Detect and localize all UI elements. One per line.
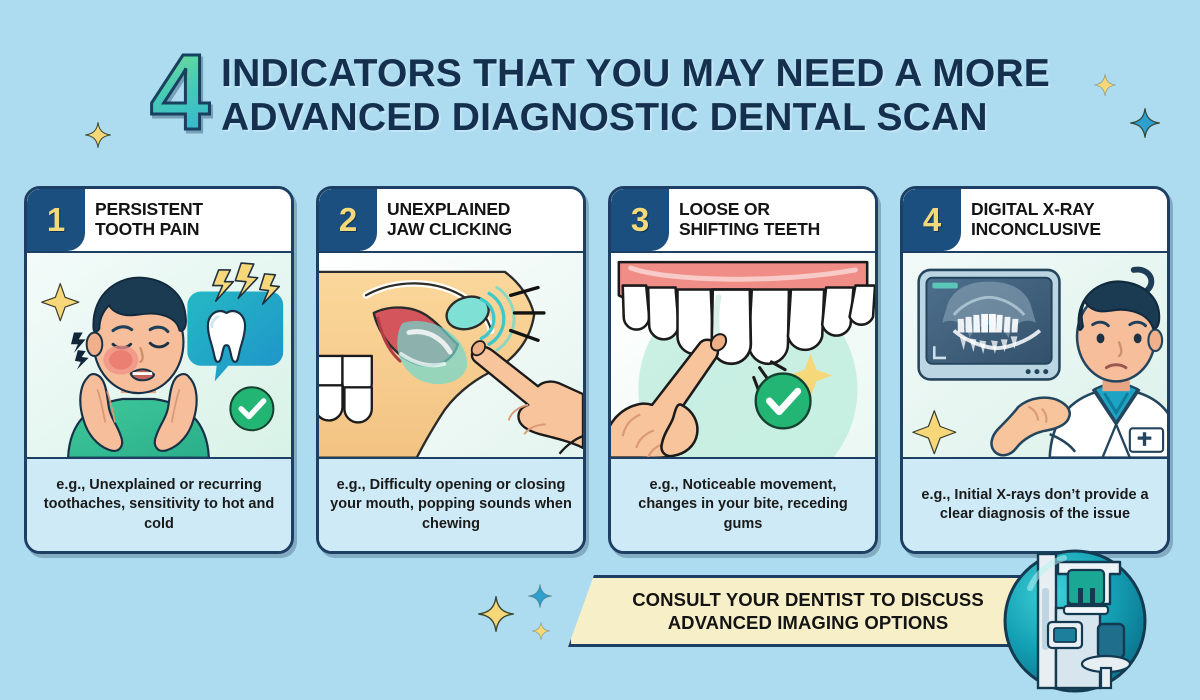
card-title: UNEXPLAINED JAW CLICKING <box>377 189 583 251</box>
card-title-line-1: LOOSE OR <box>679 200 820 220</box>
illustration-jaw-joint-with-pointing-finger <box>319 251 583 459</box>
headline-line-1: INDICATORS THAT YOU MAY NEED A MORE <box>221 52 1050 96</box>
headline-text: INDICATORS THAT YOU MAY NEED A MORE ADVA… <box>221 52 1050 139</box>
sparkle-bottom-yellow-icon <box>478 596 514 632</box>
card-caption: e.g., Noticeable movement, changes in yo… <box>611 459 875 551</box>
card-title-line-2: INCONCLUSIVE <box>971 220 1101 240</box>
card-title-line-1: UNEXPLAINED <box>387 200 512 220</box>
card-title-line-1: DIGITAL X-RAY <box>971 200 1101 220</box>
indicator-card-3[interactable]: 3 LOOSE OR SHIFTING TEETH <box>608 186 878 554</box>
card-number-badge: 4 <box>903 189 961 251</box>
indicator-card-1[interactable]: 1 PERSISTENT TOOTH PAIN <box>24 186 294 554</box>
card-header: 1 PERSISTENT TOOTH PAIN <box>27 189 291 251</box>
cta-banner[interactable]: CONSULT YOUR DENTIST TO DISCUSS ADVANCED… <box>568 575 1038 647</box>
illustration-teeth-with-pointing-finger <box>611 251 875 459</box>
card-number-badge: 2 <box>319 189 377 251</box>
page-title: 4 INDICATORS THAT YOU MAY NEED A MORE AD… <box>0 52 1200 139</box>
sparkle-bottom-blue-icon <box>528 584 552 608</box>
headline-line-2: ADVANCED DIAGNOSTIC DENTAL SCAN <box>221 96 1050 140</box>
card-title-line-2: JAW CLICKING <box>387 220 512 240</box>
infographic-canvas: 4 INDICATORS THAT YOU MAY NEED A MORE AD… <box>0 0 1200 700</box>
indicator-card-4[interactable]: 4 DIGITAL X-RAY INCONCLUSIVE <box>900 186 1170 554</box>
headline-count: 4 <box>150 46 207 139</box>
cta-line-2: ADVANCED IMAGING OPTIONS <box>632 611 984 634</box>
card-number-badge: 3 <box>611 189 669 251</box>
cta-banner-text: CONSULT YOUR DENTIST TO DISCUSS ADVANCED… <box>622 588 984 634</box>
card-caption: e.g., Difficulty opening or closing your… <box>319 459 583 551</box>
card-title: LOOSE OR SHIFTING TEETH <box>669 189 875 251</box>
cbct-dental-scanner-icon <box>1002 548 1148 694</box>
card-title: PERSISTENT TOOTH PAIN <box>85 189 291 251</box>
illustration-man-with-toothache <box>27 251 291 459</box>
card-caption: e.g., Unexplained or recurring toothache… <box>27 459 291 551</box>
cta-line-1: CONSULT YOUR DENTIST TO DISCUSS <box>632 588 984 611</box>
indicator-card-2[interactable]: 2 UNEXPLAINED JAW CLICKING <box>316 186 586 554</box>
card-header: 4 DIGITAL X-RAY INCONCLUSIVE <box>903 189 1167 251</box>
card-title-line-2: SHIFTING TEETH <box>679 220 820 240</box>
card-header: 2 UNEXPLAINED JAW CLICKING <box>319 189 583 251</box>
card-number-badge: 1 <box>27 189 85 251</box>
indicator-card-list: 1 PERSISTENT TOOTH PAIN <box>24 186 1170 554</box>
card-title-line-2: TOOTH PAIN <box>95 220 203 240</box>
illustration-dentist-with-xray-monitor <box>903 251 1167 459</box>
card-title: DIGITAL X-RAY INCONCLUSIVE <box>961 189 1167 251</box>
card-title-line-1: PERSISTENT <box>95 200 203 220</box>
card-header: 3 LOOSE OR SHIFTING TEETH <box>611 189 875 251</box>
card-caption: e.g., Initial X-rays don’t provide a cle… <box>903 459 1167 551</box>
sparkle-bottom-small-yellow-icon <box>532 622 550 640</box>
